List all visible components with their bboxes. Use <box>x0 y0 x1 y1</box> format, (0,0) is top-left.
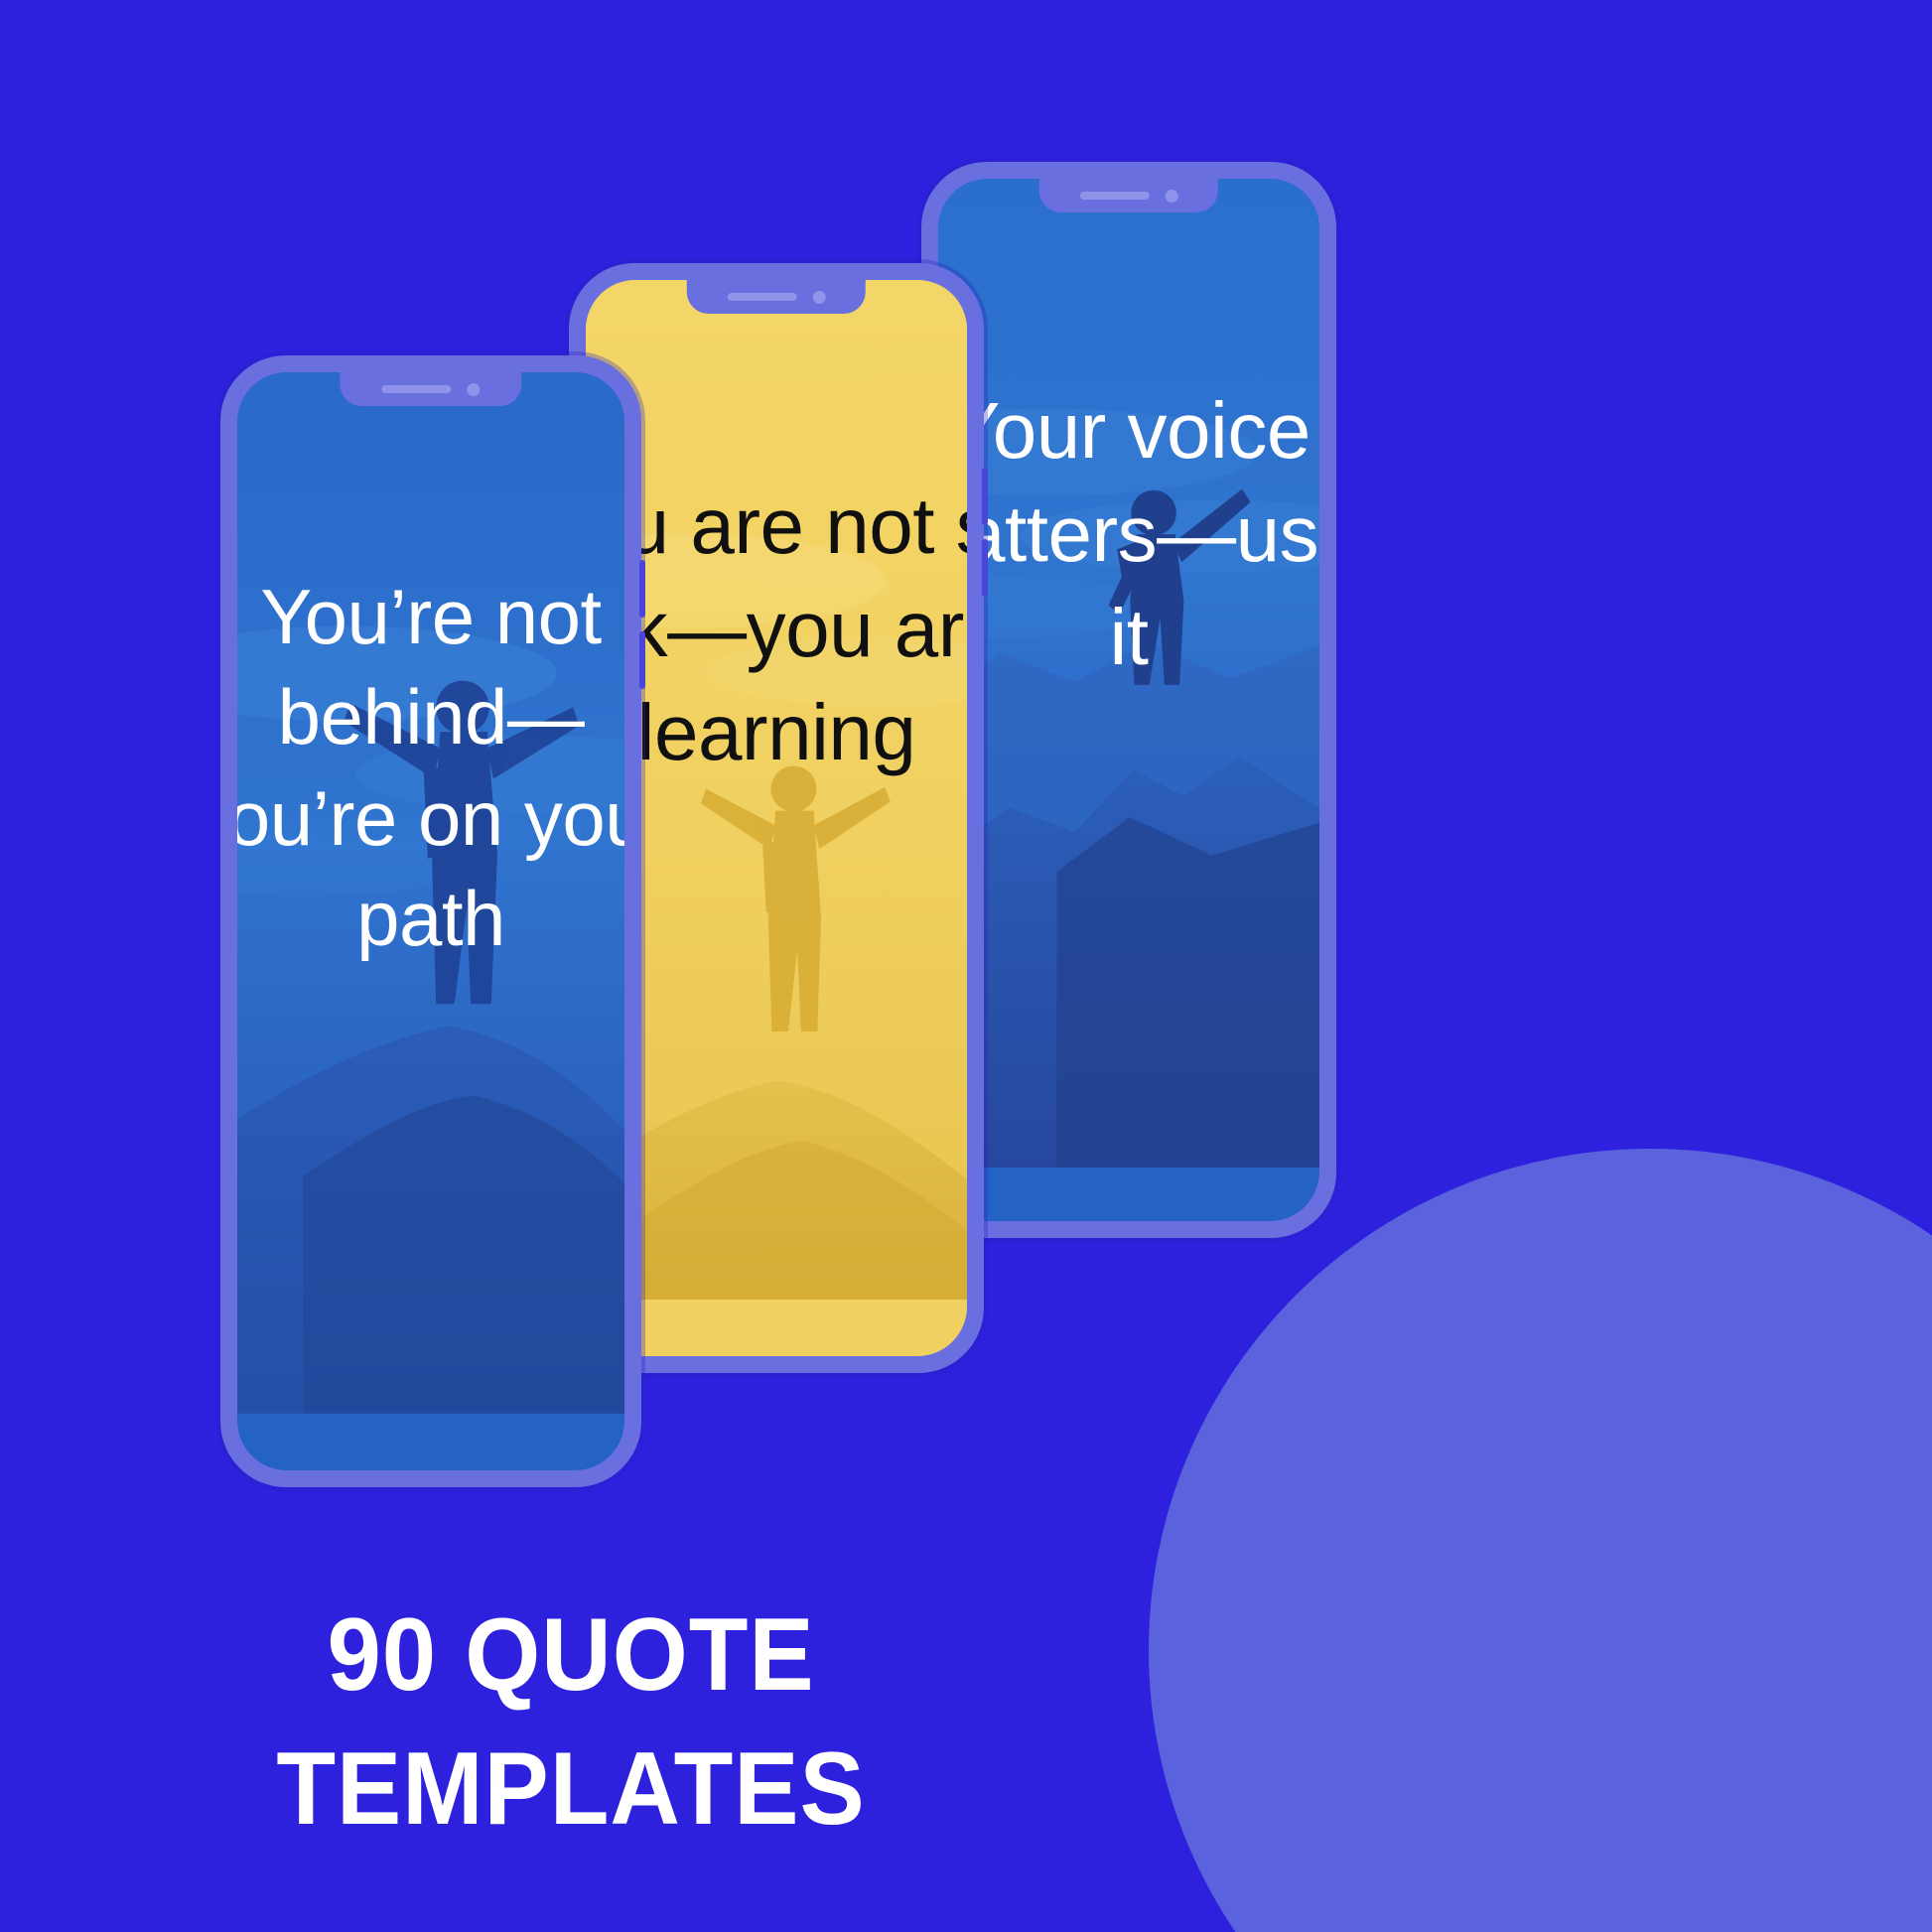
phone-mockup-left[interactable]: You’re not behind— you’re on your path <box>220 355 641 1487</box>
volume-down-button-left-phone[interactable] <box>639 631 645 689</box>
quote-line: you’re on your <box>237 768 624 869</box>
volume-down-button-middle-phone[interactable] <box>982 539 988 597</box>
phone-notch-left <box>340 372 521 406</box>
quote-line: matters—use <box>938 483 1319 586</box>
phone-notch-middle <box>687 280 866 314</box>
quote-text-middle: You are not st uck—you are learning <box>586 475 967 784</box>
quote-text-left: You’re not behind— you’re on your path <box>237 567 624 970</box>
background-photo-middle <box>586 280 967 1300</box>
poster-heading: 90 QUOTE TEMPLATES <box>35 1588 1108 1857</box>
decorative-circle <box>1149 1149 1932 1932</box>
speaker-bar-icon <box>728 293 797 301</box>
quote-line: You’re not <box>237 567 624 667</box>
quote-line: it <box>938 586 1319 689</box>
quote-line: Your voice <box>938 379 1319 483</box>
phone-screen-left: You’re not behind— you’re on your path <box>237 372 624 1470</box>
heading-line-1: 90 QUOTE <box>35 1588 1108 1723</box>
quote-line: behind— <box>237 667 624 767</box>
front-camera-icon <box>813 291 826 304</box>
speaker-bar-icon <box>1080 192 1150 200</box>
phone-screen-right: Your voice matters—use it <box>938 179 1319 1221</box>
volume-up-button-left-phone[interactable] <box>639 560 645 618</box>
front-camera-icon <box>467 383 480 396</box>
quote-line: learning <box>586 681 967 784</box>
heading-line-2: TEMPLATES <box>35 1723 1108 1857</box>
phone-notch-right <box>1039 179 1218 212</box>
quote-text-right: Your voice matters—use it <box>938 379 1319 689</box>
phone-screen-middle: You are not st uck—you are learning <box>586 280 967 1356</box>
volume-up-button-middle-phone[interactable] <box>982 468 988 525</box>
poster-canvas: Your voice matters—use it <box>0 0 1932 1932</box>
front-camera-icon <box>1166 190 1178 203</box>
speaker-bar-icon <box>381 385 451 393</box>
quote-line: path <box>237 869 624 969</box>
